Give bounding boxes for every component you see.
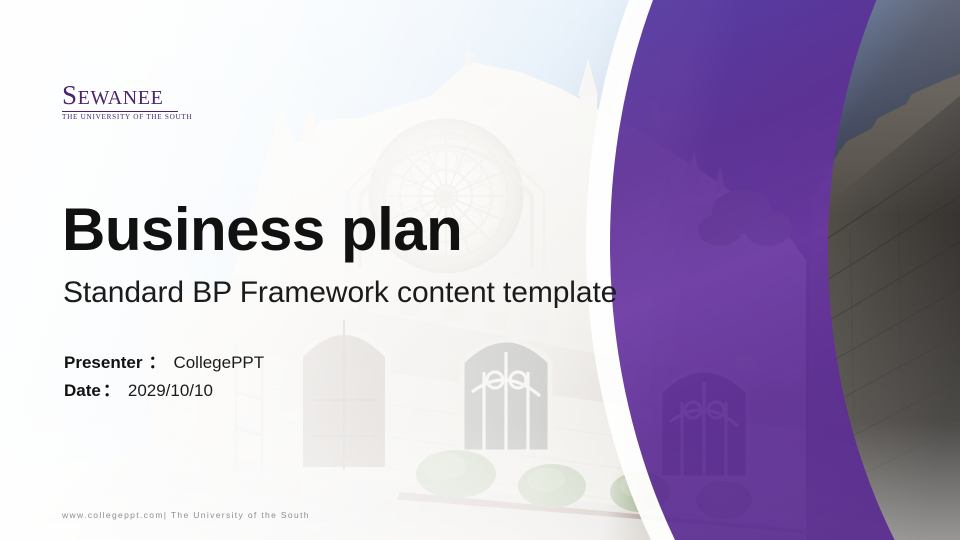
title-slide: SEWANEE THE UNIVERSITY OF THE SOUTH Busi… <box>0 0 960 540</box>
logo-tagline: THE UNIVERSITY OF THE SOUTH <box>62 114 192 121</box>
logo-wordmark: SEWANEE <box>62 82 192 109</box>
date-colon: ： <box>103 382 120 399</box>
footer-credit: www.collegeppt.com| The University of th… <box>62 510 310 520</box>
date-label: Date <box>64 382 101 399</box>
purple-crescent-decoration <box>0 0 960 540</box>
presenter-row: Presenter ： CollegePPT <box>64 354 264 371</box>
presenter-label: Presenter <box>64 354 142 371</box>
meta-block: Presenter ： CollegePPT Date ： 2029/10/10 <box>64 354 264 410</box>
presenter-value: CollegePPT <box>173 354 264 371</box>
presenter-colon: ： <box>148 354 165 371</box>
sewanee-logo: SEWANEE THE UNIVERSITY OF THE SOUTH <box>62 82 192 121</box>
logo-rest-letters: EWANEE <box>78 87 164 109</box>
date-value: 2029/10/10 <box>128 382 213 399</box>
page-subtitle: Standard BP Framework content template <box>63 278 617 308</box>
logo-lead-letter: S <box>62 80 78 110</box>
page-title: Business plan <box>62 200 462 260</box>
date-row: Date ： 2029/10/10 <box>64 382 264 399</box>
